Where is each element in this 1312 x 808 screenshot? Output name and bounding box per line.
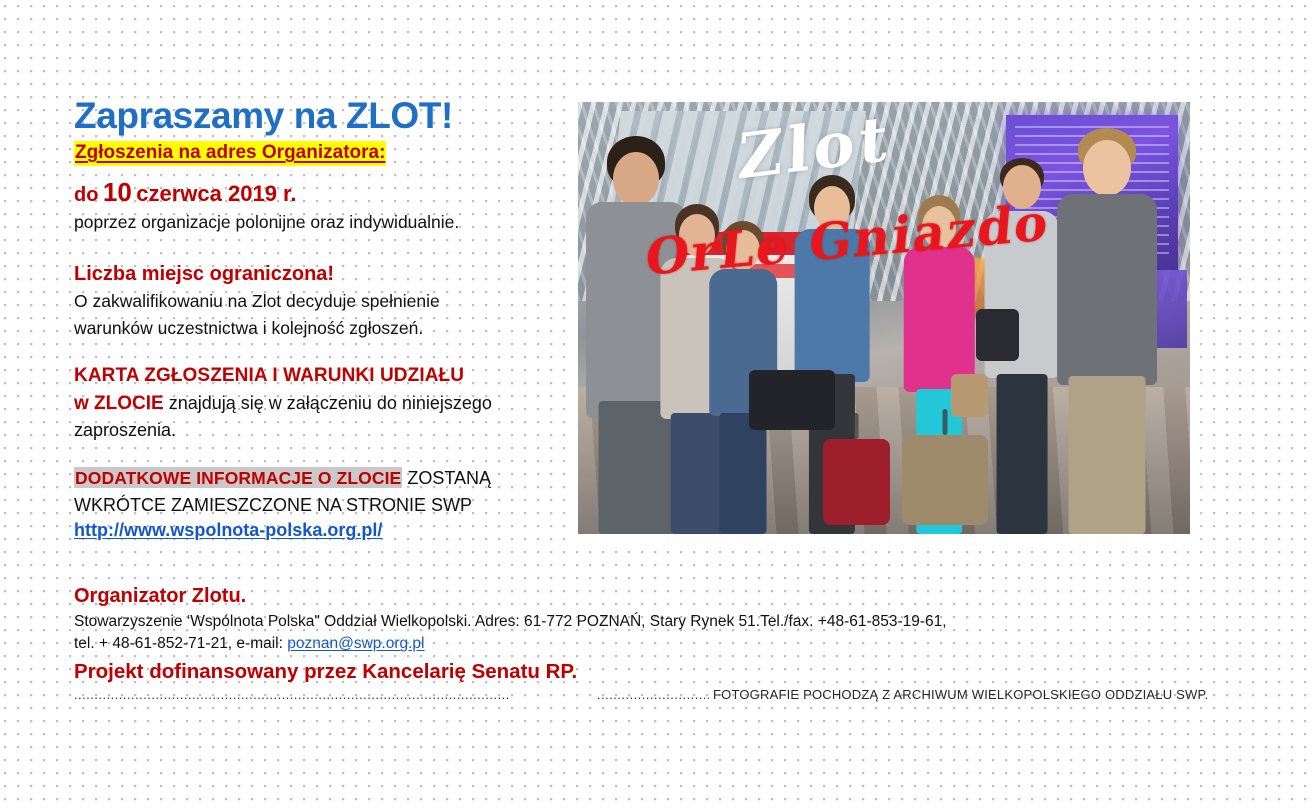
card-line-2: zaproszenia.: [74, 417, 574, 443]
deadline-method: poprzez organizacje polonijne oraz indyw…: [74, 209, 574, 235]
organizer-address: Stowarzyszenie ‘Wspólnota Polska" Oddzia…: [74, 611, 1234, 633]
head: [726, 230, 760, 270]
legs: [1069, 376, 1146, 534]
torso: [795, 229, 870, 381]
places-line-1: O zakwalifikowaniu na Zlot decyduje speł…: [74, 288, 574, 314]
invitation-text-column: Zapraszamy na ZLOT! Zgłoszenia na adres …: [74, 96, 574, 541]
organizer-phone: tel. + 48-61-852-71-21, e-mail:: [74, 635, 287, 652]
organizer-heading: Organizator Zlotu.: [74, 583, 1234, 609]
torso: [1057, 194, 1157, 385]
head: [1083, 140, 1131, 196]
deadline-day: 10: [103, 177, 132, 207]
photo-credit-row: ........................................…: [74, 687, 1234, 702]
submission-header: Zgłoszenia na adres Organizatora:: [74, 141, 386, 165]
card-rest: znajdują się w załączeniu do niniejszego: [164, 393, 492, 413]
legs: [996, 374, 1047, 534]
photo-credit-text: FOTOGRAFIE POCHODZĄ Z ARCHIWUM WIELKOPOL…: [713, 687, 1208, 702]
places-line-2: warunków uczestnictwa i kolejność zgłosz…: [74, 315, 574, 341]
slide-root: Zapraszamy na ZLOT! Zgłoszenia na adres …: [0, 0, 1312, 808]
deadline-line: do 10 czerwca 2019 r.: [74, 176, 574, 209]
places-heading: Liczba miejsc ograniczona!: [74, 261, 574, 288]
beige-suitcase: [902, 435, 988, 526]
legs: [720, 413, 767, 534]
organizer-email-link[interactable]: poznan@swp.org.pl: [287, 635, 424, 652]
spacer: [74, 235, 574, 261]
more-info-line-1: DODATKOWE INFORMACJE O ZLOCIE ZOSTANĄ: [74, 465, 574, 492]
deadline-rest: czerwca 2019 r.: [136, 181, 296, 206]
spacer: [74, 443, 574, 465]
card-emphasis: w ZLOCIE: [74, 393, 164, 414]
head: [1003, 165, 1041, 209]
more-info-line-2: WKRÓTCE ZAMIESZCZONE NA STRONIE SWP: [74, 492, 574, 519]
card-heading: KARTA ZGŁOSZENIA I WARUNKI UDZIAŁU: [74, 363, 574, 390]
red-suitcase: [823, 439, 890, 525]
head: [814, 186, 850, 230]
person-right-tall-boy: [1055, 119, 1159, 534]
footer-block: Organizator Zlotu. Stowarzyszenie ‘Wspól…: [74, 583, 1234, 702]
more-info-rest: ZOSTANĄ: [402, 468, 491, 488]
card-detail-line: w ZLOCIE znajdują się w załączeniu do ni…: [74, 390, 574, 418]
spacer: [74, 341, 574, 363]
deadline-prefix: do: [74, 184, 98, 206]
more-info-highlight: DODATKOWE INFORMACJE O ZLOCIE: [74, 467, 402, 488]
dotted-leader-left: ........................................…: [74, 688, 592, 702]
station-photo: Zlot OrLe Gniazdo: [578, 102, 1190, 534]
photo-frame: Zlot OrLe Gniazdo: [572, 96, 1196, 540]
project-funding-note: Projekt dofinansowany przez Kancelarię S…: [74, 659, 1234, 686]
shoulder-bag: [976, 309, 1019, 361]
head: [922, 206, 956, 248]
page-title: Zapraszamy na ZLOT!: [74, 96, 574, 135]
organizer-contact-line: tel. + 48-61-852-71-21, e-mail: poznan@s…: [74, 633, 1234, 655]
black-duffel-bag: [749, 370, 835, 430]
head: [613, 152, 659, 206]
swp-website-link[interactable]: http://www.wspolnota-polska.org.pl/: [74, 520, 382, 541]
torso: [904, 247, 975, 392]
dotted-leader-right: ................................: [597, 688, 709, 702]
tan-handbag: [951, 374, 988, 417]
